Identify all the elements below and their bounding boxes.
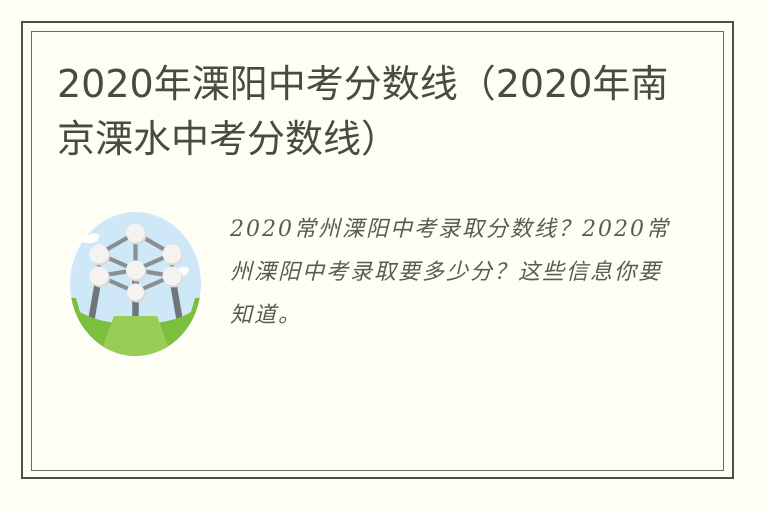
article-paragraph: 2020常州溧阳中考录取分数线？2020常州溧阳中考录取要多少分？这些信息你要知… <box>230 206 677 337</box>
article-body: 2020常州溧阳中考录取分数线？2020常州溧阳中考录取要多少分？这些信息你要知… <box>57 206 677 356</box>
article-card: 2020年溧阳中考分数线（2020年南京溧水中考分数线） <box>0 0 768 510</box>
page-title: 2020年溧阳中考分数线（2020年南京溧水中考分数线） <box>57 57 677 167</box>
atomium-monument-icon <box>70 212 201 356</box>
